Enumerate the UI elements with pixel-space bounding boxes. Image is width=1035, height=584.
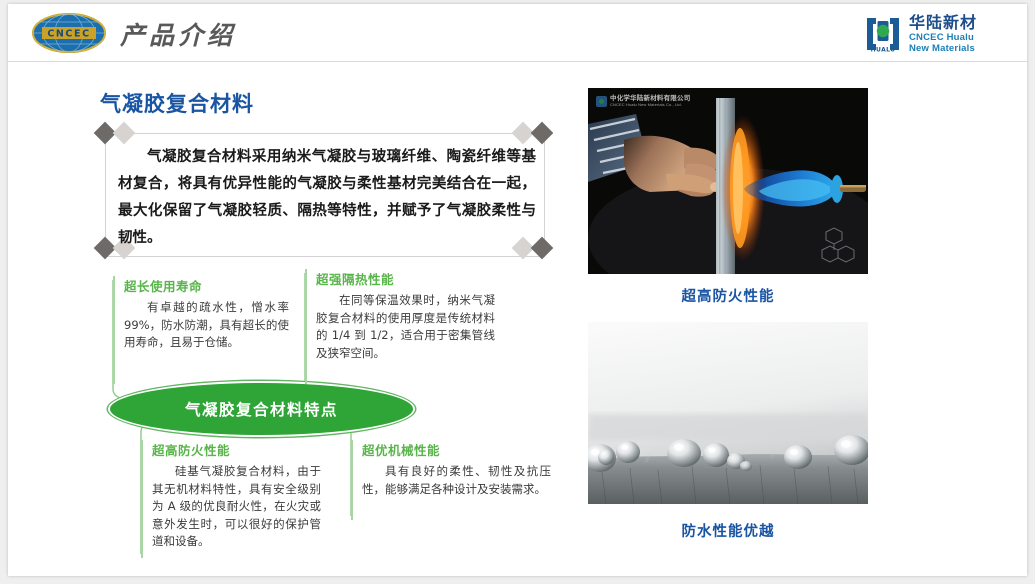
section-heading: 气凝胶复合材料	[100, 88, 254, 118]
watermark-text-cn: 中化学华陆新材料有限公司	[610, 95, 690, 102]
feature-block-insulation: 超强隔热性能 在同等保温效果时，纳米气凝胶复合材料的使用厚度是传统材料的 1/4…	[305, 269, 495, 384]
hualu-wordmark: 华陆新材 CNCEC Hualu New Materials	[909, 15, 977, 53]
feature-title-mechanical: 超优机械性能	[362, 440, 551, 459]
feature-title-fire: 超高防火性能	[152, 440, 321, 459]
feature-title-insulation: 超强隔热性能	[316, 269, 495, 288]
feature-body-mechanical: 具有良好的柔性、韧性及抗压性，能够满足各种设计及安装需求。	[362, 463, 551, 498]
hualu-logo-en-line2: New Materials	[909, 44, 977, 54]
intro-paragraph: 气凝胶复合材料采用纳米气凝胶与玻璃纤维、陶瓷纤维等基材复合，将具有优异性能的气凝…	[118, 144, 536, 252]
hualu-logo-cn: 华陆新材	[909, 15, 977, 31]
diagram-center-label: 气凝胶复合材料特点	[185, 398, 338, 420]
feature-body-fire: 硅基气凝胶复合材料，由于其无机材料特性，具有安全级别为 A 级的优良耐火性，在火…	[152, 463, 321, 551]
photo-fire-test: 中化学华陆新材料有限公司 CNCEC Hualu New Materials C…	[588, 88, 868, 274]
feature-block-fire: 超高防火性能 硅基气凝胶复合材料，由于其无机材料特性，具有安全级别为 A 级的优…	[141, 440, 321, 558]
hualu-logo-en-line1: CNCEC Hualu	[909, 33, 977, 43]
slide-header: CNCEC 产品介绍 HUALU 华陆新材 CNCEC Hualu New Ma…	[8, 4, 1027, 61]
watermark-logo-icon	[596, 96, 607, 107]
hualu-mark-icon: HUALU	[863, 15, 903, 53]
svg-text:HUALU: HUALU	[871, 47, 896, 54]
svg-text:CNCEC: CNCEC	[47, 29, 90, 40]
photo-water-repellent	[588, 322, 868, 504]
cncec-logo: CNCEC	[30, 12, 108, 54]
photo-caption-water: 防水性能优越	[588, 520, 868, 541]
hualu-logo: HUALU 华陆新材 CNCEC Hualu New Materials	[863, 14, 1013, 54]
feature-block-mechanical: 超优机械性能 具有良好的柔性、韧性及抗压性，能够满足各种设计及安装需求。	[351, 440, 551, 520]
photo-caption-fire: 超高防火性能	[588, 285, 868, 306]
feature-body-insulation: 在同等保温效果时，纳米气凝胶复合材料的使用厚度是传统材料的 1/4 到 1/2，…	[316, 292, 495, 362]
slide-canvas: CNCEC 产品介绍 HUALU 华陆新材 CNCEC Hualu New Ma…	[8, 4, 1027, 576]
header-divider	[8, 61, 1027, 62]
feature-title-life: 超长使用寿命	[124, 276, 289, 295]
photo-watermark: 中化学华陆新材料有限公司 CNCEC Hualu New Materials C…	[596, 95, 690, 107]
diagram-center-ellipse: 气凝胶复合材料特点	[108, 381, 415, 437]
page-title: 产品介绍	[120, 16, 236, 52]
feature-body-life: 有卓越的疏水性，憎水率99%，防水防潮，具有超长的使用寿命，且易于仓储。	[124, 299, 289, 352]
watermark-text-en: CNCEC Hualu New Materials Co., Ltd.	[610, 103, 690, 107]
feature-block-life: 超长使用寿命 有卓越的疏水性，憎水率99%，防水防潮，具有超长的使用寿命，且易于…	[113, 276, 289, 384]
